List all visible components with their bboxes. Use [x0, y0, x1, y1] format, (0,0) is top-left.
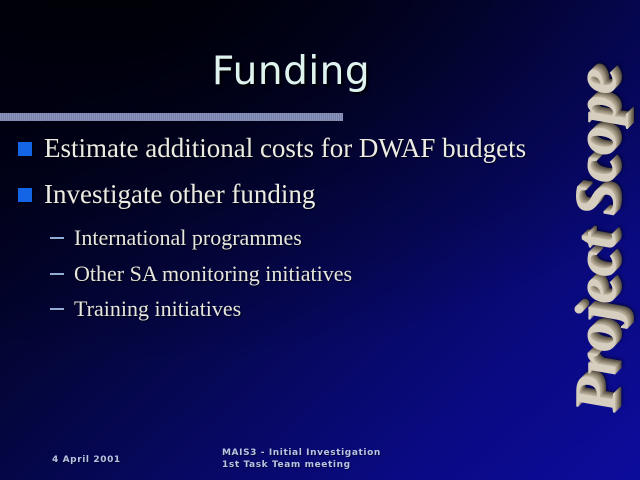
bullet-item-level2: International programmes [0, 225, 560, 252]
dash-bullet-icon [50, 237, 64, 239]
slide-footer: 4 April 2001 MAIS3 - Initial Investigati… [0, 434, 640, 480]
footer-meeting-line2: 1st Task Team meeting [222, 459, 381, 471]
title-divider-rule [0, 113, 343, 121]
slide-body-content: Estimate additional costs for DWAF budge… [0, 132, 560, 323]
bullet-item-level2: Training initiatives [0, 296, 560, 323]
bullet-text: Estimate additional costs for DWAF budge… [44, 132, 560, 164]
bullet-text: Other SA monitoring initiatives [74, 261, 560, 288]
footer-meeting-line1: MAIS3 - Initial Investigation [222, 447, 381, 459]
dash-bullet-icon [50, 273, 64, 275]
square-bullet-icon [18, 188, 32, 202]
bullet-item-level1: Investigate other funding [0, 178, 560, 210]
bullet-item-level1: Estimate additional costs for DWAF budge… [0, 132, 560, 164]
slide-title: Funding [0, 52, 582, 93]
bullet-text: Training initiatives [74, 296, 560, 323]
bullet-item-level2: Other SA monitoring initiatives [0, 261, 560, 288]
bullet-text: International programmes [74, 225, 560, 252]
dash-bullet-icon [50, 308, 64, 310]
footer-date: 4 April 2001 [52, 454, 121, 466]
footer-meeting-info: MAIS3 - Initial Investigation 1st Task T… [222, 447, 381, 471]
slide-title-block: Funding [0, 52, 582, 93]
presentation-slide: Funding Estimate additional costs for DW… [0, 0, 640, 480]
side-banner-title: Project Scope [562, 67, 631, 413]
bullet-text: Investigate other funding [44, 178, 560, 210]
square-bullet-icon [18, 142, 32, 156]
